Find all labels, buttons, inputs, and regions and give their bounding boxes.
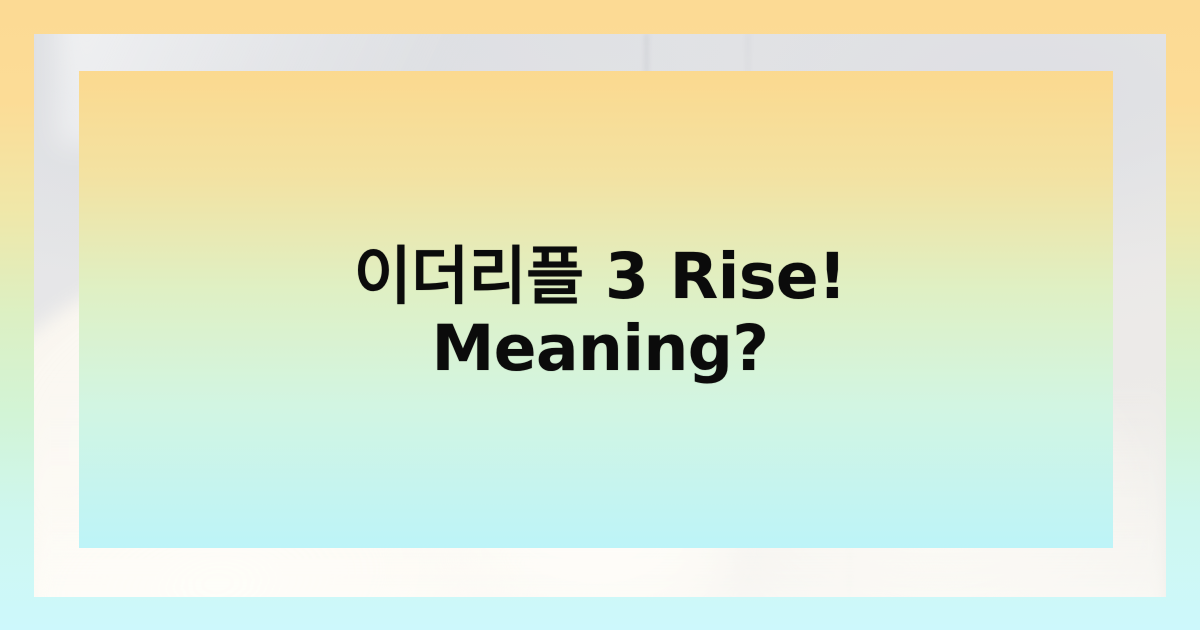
thumbnail-card: ₿ 이더리플 3 Rise! Meaning? — [0, 0, 1200, 630]
title-block: 이더리플 3 Rise! Meaning? — [34, 34, 1166, 597]
content-panel: ₿ 이더리플 3 Rise! Meaning? — [34, 34, 1166, 597]
title-line-secondary: Meaning? — [432, 313, 769, 385]
title-line-primary: 이더리플 3 Rise! — [354, 241, 847, 313]
